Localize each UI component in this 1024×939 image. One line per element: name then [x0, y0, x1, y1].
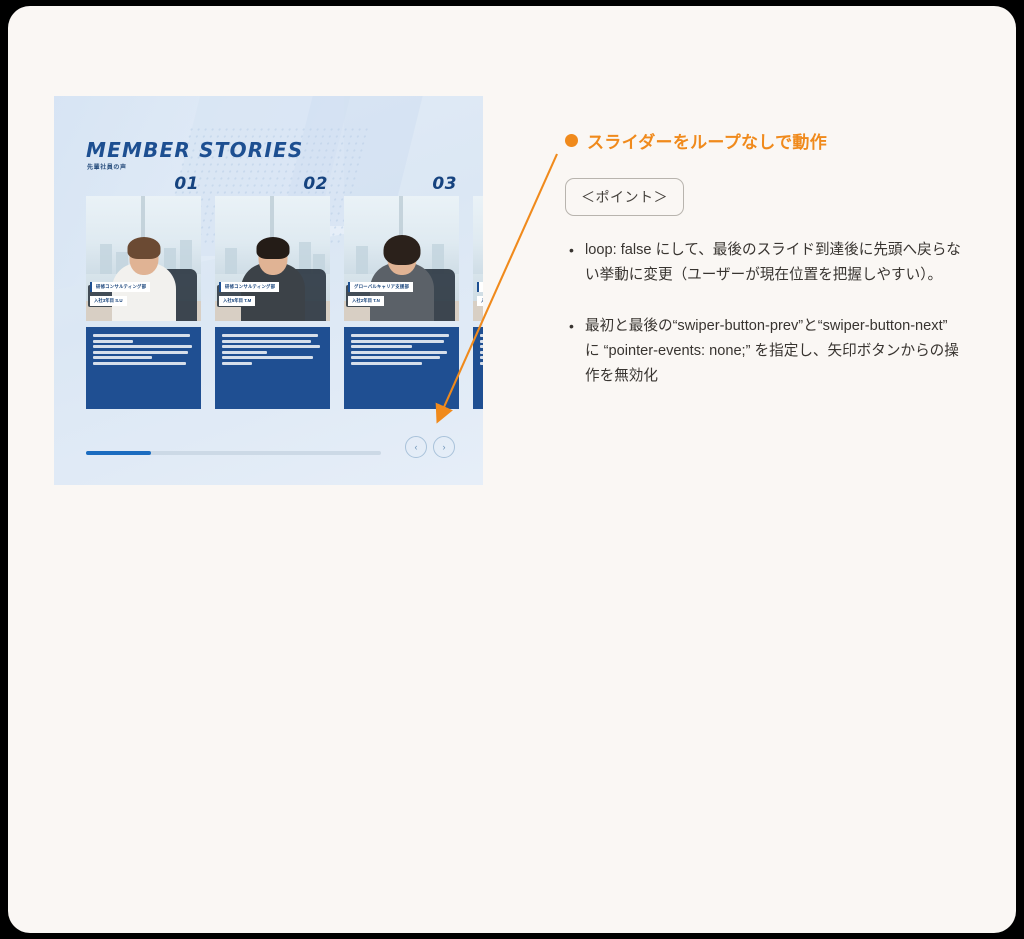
slide-year: 入社3年目 S.U	[90, 296, 127, 306]
list-item: loop: false にして、最後のスライド到達後に先頭へ戻らない挙動に変更（…	[565, 238, 965, 288]
slide-department: グローバルキャリア支援部	[348, 282, 413, 292]
slide-year: 入社2年目 T.N	[348, 296, 384, 306]
slide-text-block	[344, 327, 459, 409]
slider-prev-button[interactable]: ‹	[405, 436, 427, 458]
slide-card[interactable]: 02 研修コンサルティング部 入社5年目 T.M	[215, 196, 330, 431]
slider-subtitle: 先輩社員の声	[87, 162, 127, 171]
slider-title: MEMBER STORIES	[86, 138, 304, 162]
slide-card[interactable]: 01 研修コンサルティング部 入社3年目 S.U	[86, 196, 201, 431]
slide-number: 03	[432, 174, 457, 194]
annotation-panel: スライダーをループなしで動作 ＜ポイント＞ loop: false にして、最後…	[565, 128, 965, 415]
chevron-left-icon: ‹	[415, 442, 418, 452]
slide-card[interactable]: 03 グローバルキャリア支援部 入社2年目 T.N	[344, 196, 459, 431]
annotation-bullet-list: loop: false にして、最後のスライド到達後に先頭へ戻らない挙動に変更（…	[565, 238, 965, 389]
list-item: 最初と最後の“swiper-button-prev”と“swiper-butto…	[565, 314, 965, 389]
slider-next-button[interactable]: ›	[433, 436, 455, 458]
slide-card[interactable]: 人事部 入社4年目	[473, 196, 483, 431]
slide-text-block	[473, 327, 483, 409]
slider-progress-track[interactable]	[86, 451, 381, 455]
slide-text-block	[86, 327, 201, 409]
slide-rail[interactable]: 01 研修コンサルティング部 入社3年目 S.U	[86, 196, 483, 431]
slider-progress-fill	[86, 451, 151, 455]
slide-text-block	[215, 327, 330, 409]
slider-screenshot: MEMBER STORIES 先輩社員の声 01	[54, 96, 483, 485]
bullet-dot-icon	[565, 134, 578, 147]
slider-nav-group: ‹ ›	[405, 436, 455, 458]
annotation-heading-text: スライダーをループなしで動作	[587, 128, 827, 153]
slide-number: 02	[303, 174, 328, 194]
slide-year: 入社4年目	[477, 296, 483, 306]
page-canvas: MEMBER STORIES 先輩社員の声 01	[8, 6, 1016, 933]
slide-year: 入社5年目 T.M	[219, 296, 255, 306]
slide-department: 人事部	[477, 282, 483, 292]
slide-department: 研修コンサルティング部	[219, 282, 279, 292]
slide-number: 01	[174, 174, 199, 194]
annotation-heading: スライダーをループなしで動作	[565, 128, 965, 153]
point-pill-badge: ＜ポイント＞	[565, 178, 684, 216]
slide-department: 研修コンサルティング部	[90, 282, 150, 292]
chevron-right-icon: ›	[443, 442, 446, 452]
